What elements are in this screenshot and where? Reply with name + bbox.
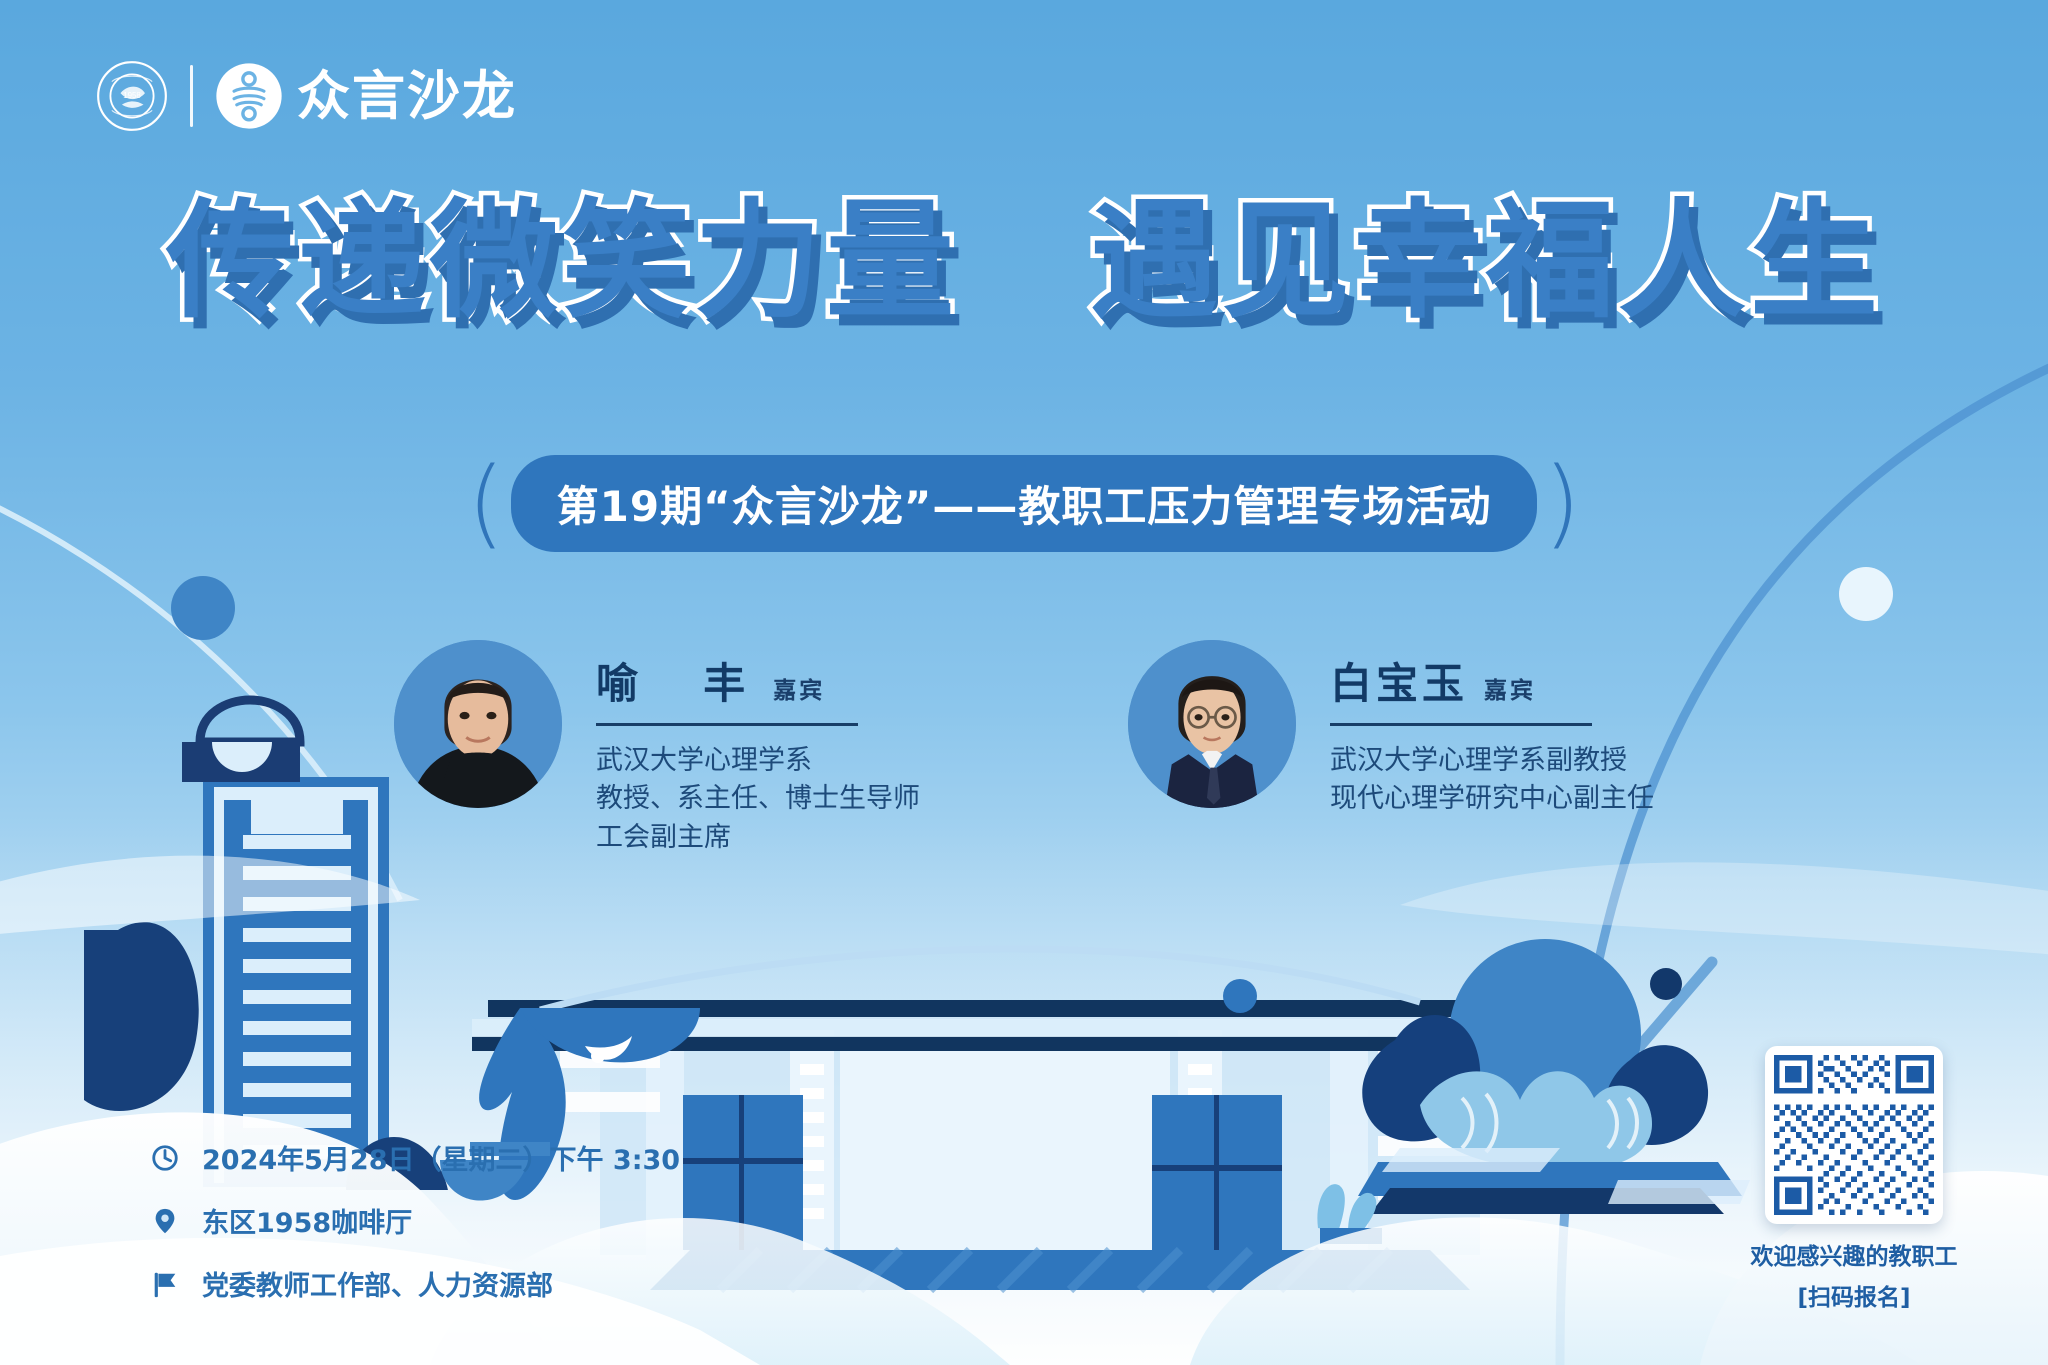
subtitle-block: ( 第19期“众言沙龙”——教职工压力管理专场活动 ) — [0, 455, 2048, 552]
detail-text: 东区1958咖啡厅 — [202, 1201, 412, 1240]
salon-circle-icon — [215, 62, 283, 130]
decor-dot-navy — [1650, 968, 1682, 1000]
speakers-section: 喻 丰 嘉宾 武汉大学心理学系 教授、系主任、博士生导师 工会副主席 — [0, 640, 2048, 857]
university-seal-icon: 1958 — [96, 60, 168, 132]
speaker-divider — [596, 723, 858, 726]
clock-icon — [150, 1142, 180, 1174]
speaker-role: 嘉宾 — [773, 671, 825, 705]
speaker-nameline: 喻 丰 嘉宾 — [596, 650, 920, 711]
logo-divider — [190, 65, 193, 127]
speaker-nameline: 白宝玉 嘉宾 — [1330, 650, 1654, 711]
location-pin-icon — [150, 1205, 180, 1237]
speaker-photo-baibaoyu — [1128, 640, 1296, 808]
speaker-card: 白宝玉 嘉宾 武汉大学心理学系副教授 现代心理学研究中心副主任 — [1128, 640, 1654, 857]
speaker-role: 嘉宾 — [1484, 671, 1536, 705]
speaker-affiliation: 工会副主席 — [596, 819, 920, 857]
registration-block: 欢迎感兴趣的教职工 [扫码报名] — [1748, 1046, 1960, 1317]
decor-node-blue — [171, 576, 235, 640]
speaker-affiliation: 武汉大学心理学系 — [596, 742, 920, 780]
speaker-name: 白宝玉 — [1330, 650, 1468, 711]
paren-right-icon: ) — [1543, 460, 1580, 546]
speaker-affiliation: 武汉大学心理学系副教授 — [1330, 742, 1654, 780]
speaker-affiliation: 现代心理学研究中心副主任 — [1330, 780, 1654, 818]
qr-caption-line1: 欢迎感兴趣的教职工 — [1748, 1240, 1960, 1276]
page-title: 传递微笑力量 遇见幸福人生 — [166, 198, 1882, 326]
title-block: 传递微笑力量 遇见幸福人生 — [0, 198, 2048, 326]
event-details: 2024年5月28日（星期二）下午 3:30 东区1958咖啡厅 党委教师工作部… — [150, 1138, 680, 1303]
speaker-card: 喻 丰 嘉宾 武汉大学心理学系 教授、系主任、博士生导师 工会副主席 — [394, 640, 920, 857]
qr-code-icon[interactable] — [1774, 1055, 1934, 1215]
decor-node-white — [1839, 567, 1893, 621]
paren-left-icon: ( — [467, 460, 504, 546]
avatar — [394, 640, 562, 808]
detail-row-organizer: 党委教师工作部、人力资源部 — [150, 1264, 680, 1303]
speaker-info: 白宝玉 嘉宾 武汉大学心理学系副教授 现代心理学研究中心副主任 — [1330, 640, 1654, 819]
speaker-divider — [1330, 723, 1592, 726]
qr-caption-line2: [扫码报名] — [1748, 1281, 1960, 1317]
speaker-info: 喻 丰 嘉宾 武汉大学心理学系 教授、系主任、博士生导师 工会副主席 — [596, 640, 920, 857]
seal-year: 1958 — [123, 91, 141, 100]
detail-text: 2024年5月28日（星期二）下午 3:30 — [202, 1138, 680, 1177]
speaker-photo-yufeng — [394, 640, 562, 808]
subtitle-pill: 第19期“众言沙龙”——教职工压力管理专场活动 — [511, 455, 1538, 552]
detail-text: 党委教师工作部、人力资源部 — [202, 1264, 553, 1303]
qr-card[interactable] — [1765, 1046, 1943, 1224]
flag-icon — [150, 1268, 180, 1300]
avatar — [1128, 640, 1296, 808]
salon-logo: 众言沙龙 — [215, 62, 517, 130]
detail-row-datetime: 2024年5月28日（星期二）下午 3:30 — [150, 1138, 680, 1177]
brand-logo-bar: 1958 众言沙龙 — [96, 60, 517, 132]
salon-name: 众言沙龙 — [297, 70, 517, 123]
speaker-affiliation: 教授、系主任、博士生导师 — [596, 780, 920, 818]
event-poster: 1958 众言沙龙 传递微笑力量 遇见幸福人生 — [0, 0, 2048, 1365]
speaker-name: 喻 丰 — [596, 650, 757, 711]
detail-row-location: 东区1958咖啡厅 — [150, 1201, 680, 1240]
